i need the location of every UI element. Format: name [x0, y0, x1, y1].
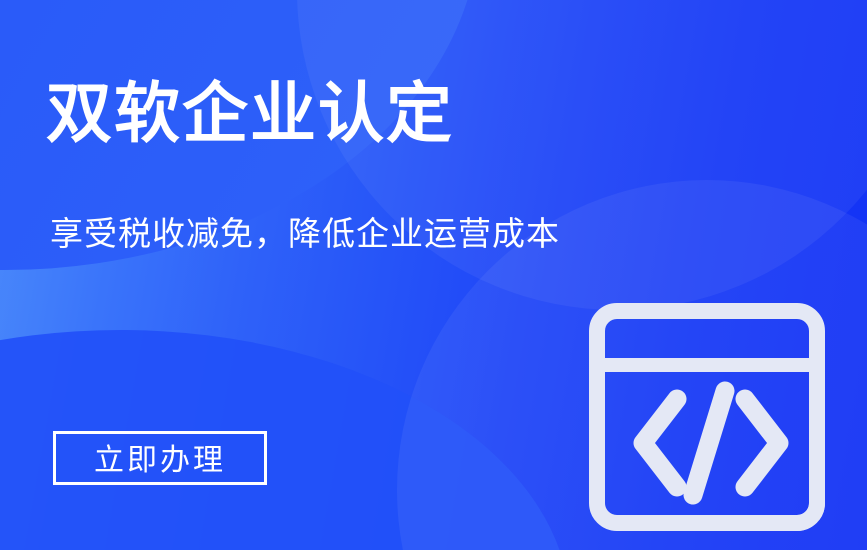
apply-now-button[interactable]: 立即办理 — [53, 431, 267, 485]
banner-title: 双软企业认定 — [46, 80, 454, 146]
banner-subtitle: 享受税收减免，降低企业运营成本 — [50, 214, 560, 254]
decorative-circle-top-right — [297, 0, 867, 310]
promo-banner: 双软企业认定 享受税收减免，降低企业运营成本 立即办理 — [0, 0, 867, 550]
code-window-icon — [589, 303, 825, 531]
